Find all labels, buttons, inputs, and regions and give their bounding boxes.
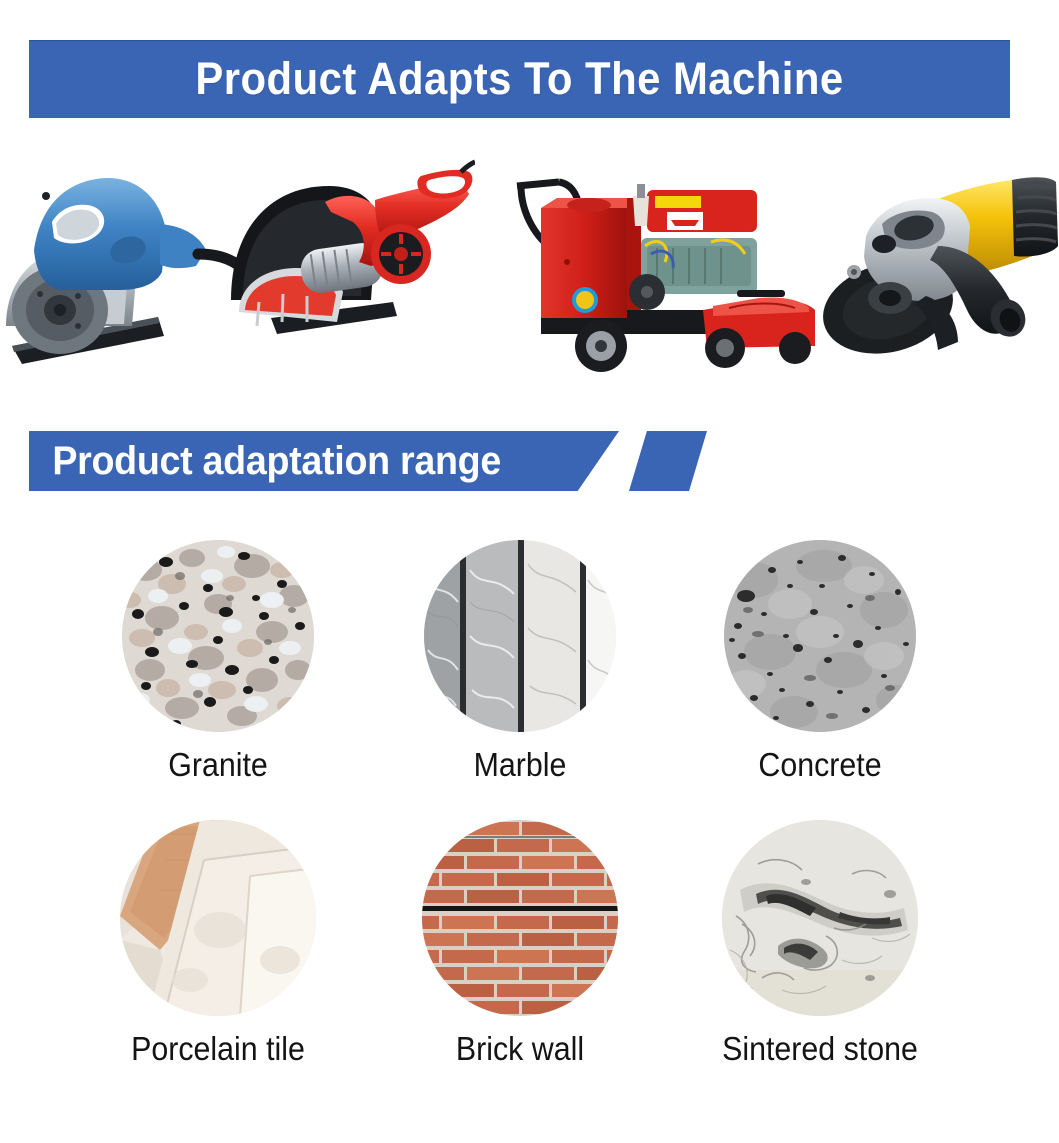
marble-swatch (424, 540, 616, 732)
brick-wall-swatch (422, 820, 618, 1016)
sintered-stone-swatch (722, 820, 918, 1016)
granite-swatch (122, 540, 314, 732)
material-item-brick-wall: Brick wall (370, 820, 670, 1068)
machine-image-marble-tile-cutter (0, 150, 262, 390)
machine-image-angle-grinder (818, 150, 1059, 390)
material-item-marble: Marble (370, 540, 670, 784)
concrete-swatch (724, 540, 916, 732)
machine-image-walk-behind-road-cutter (515, 150, 825, 390)
material-item-concrete: Concrete (670, 540, 970, 784)
section-banner-body: Product adaptation range (29, 431, 619, 491)
product-adapts-banner: Product Adapts To The Machine (29, 40, 1010, 118)
section-title: Product adaptation range (52, 439, 501, 484)
material-grid: Granite (0, 540, 1059, 1110)
banner-slash-accent (629, 431, 707, 491)
material-label: Sintered stone (682, 1030, 958, 1068)
material-item-granite: Granite (68, 540, 368, 784)
product-adaptation-range-banner: Product adaptation range (29, 431, 689, 491)
material-label: Concrete (682, 746, 958, 784)
material-label: Brick wall (382, 1030, 658, 1068)
machine-gallery (0, 150, 1059, 390)
material-label: Porcelain tile (80, 1030, 356, 1068)
material-label: Marble (382, 746, 658, 784)
material-item-porcelain-tile: Porcelain tile (68, 820, 368, 1068)
machine-image-concrete-cutting-saw (225, 150, 475, 390)
porcelain-tile-swatch (120, 820, 316, 1016)
page-title: Product Adapts To The Machine (195, 53, 843, 105)
material-item-sintered-stone: Sintered stone (670, 820, 970, 1068)
material-label: Granite (80, 746, 356, 784)
